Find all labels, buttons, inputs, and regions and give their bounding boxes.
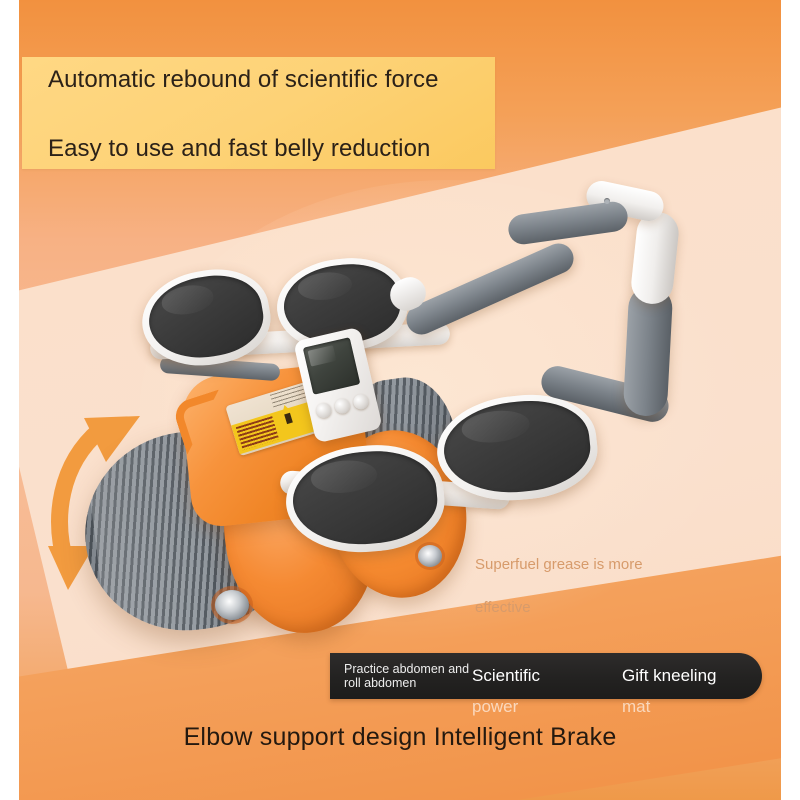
handle-screw-icon <box>604 198 610 204</box>
counter-button-middle[interactable] <box>333 397 351 415</box>
feature-strip-overflow: power mat <box>330 697 762 723</box>
headline-line-1: Automatic rebound of scientific force <box>48 66 478 93</box>
product-promo-image: Automatic rebound of scientific force Ea… <box>0 0 800 800</box>
feature-item-1: Practice abdomen and roll abdomen <box>330 662 472 690</box>
feature-strip: Practice abdomen and roll abdomen Scient… <box>330 653 762 699</box>
counter-button-right[interactable] <box>352 393 370 411</box>
handle-grip-left <box>402 239 579 340</box>
handle-tube-right <box>629 210 680 306</box>
counter-lcd-screen <box>303 337 361 395</box>
feature-item-3-overflow: mat <box>622 697 650 723</box>
front-axle-bolt <box>215 590 249 620</box>
side-copy-line-2: effective <box>475 599 775 616</box>
rear-axle-bolt <box>418 545 442 567</box>
feature-item-3: Gift kneeling <box>622 666 717 686</box>
counter-button-left[interactable] <box>315 401 333 419</box>
headline-line-2: Easy to use and fast belly reduction <box>48 135 496 162</box>
side-copy: Superfuel grease is more effective <box>475 556 775 616</box>
headline-banner: Automatic rebound of scientific force Ea… <box>22 57 495 169</box>
side-copy-line-1: Superfuel grease is more <box>475 556 775 573</box>
handle-grip-upper <box>506 200 629 246</box>
pad-foam <box>143 268 269 367</box>
handle-grip-right <box>623 285 674 417</box>
feature-item-2-overflow: power <box>472 697 622 723</box>
feature-overflow-spacer <box>330 697 472 723</box>
bottom-tagline: Elbow support design Intelligent Brake <box>0 723 800 752</box>
feature-item-2: Scientific <box>472 666 622 686</box>
pad-foam <box>289 446 440 550</box>
curved-handle-bar <box>390 178 690 448</box>
